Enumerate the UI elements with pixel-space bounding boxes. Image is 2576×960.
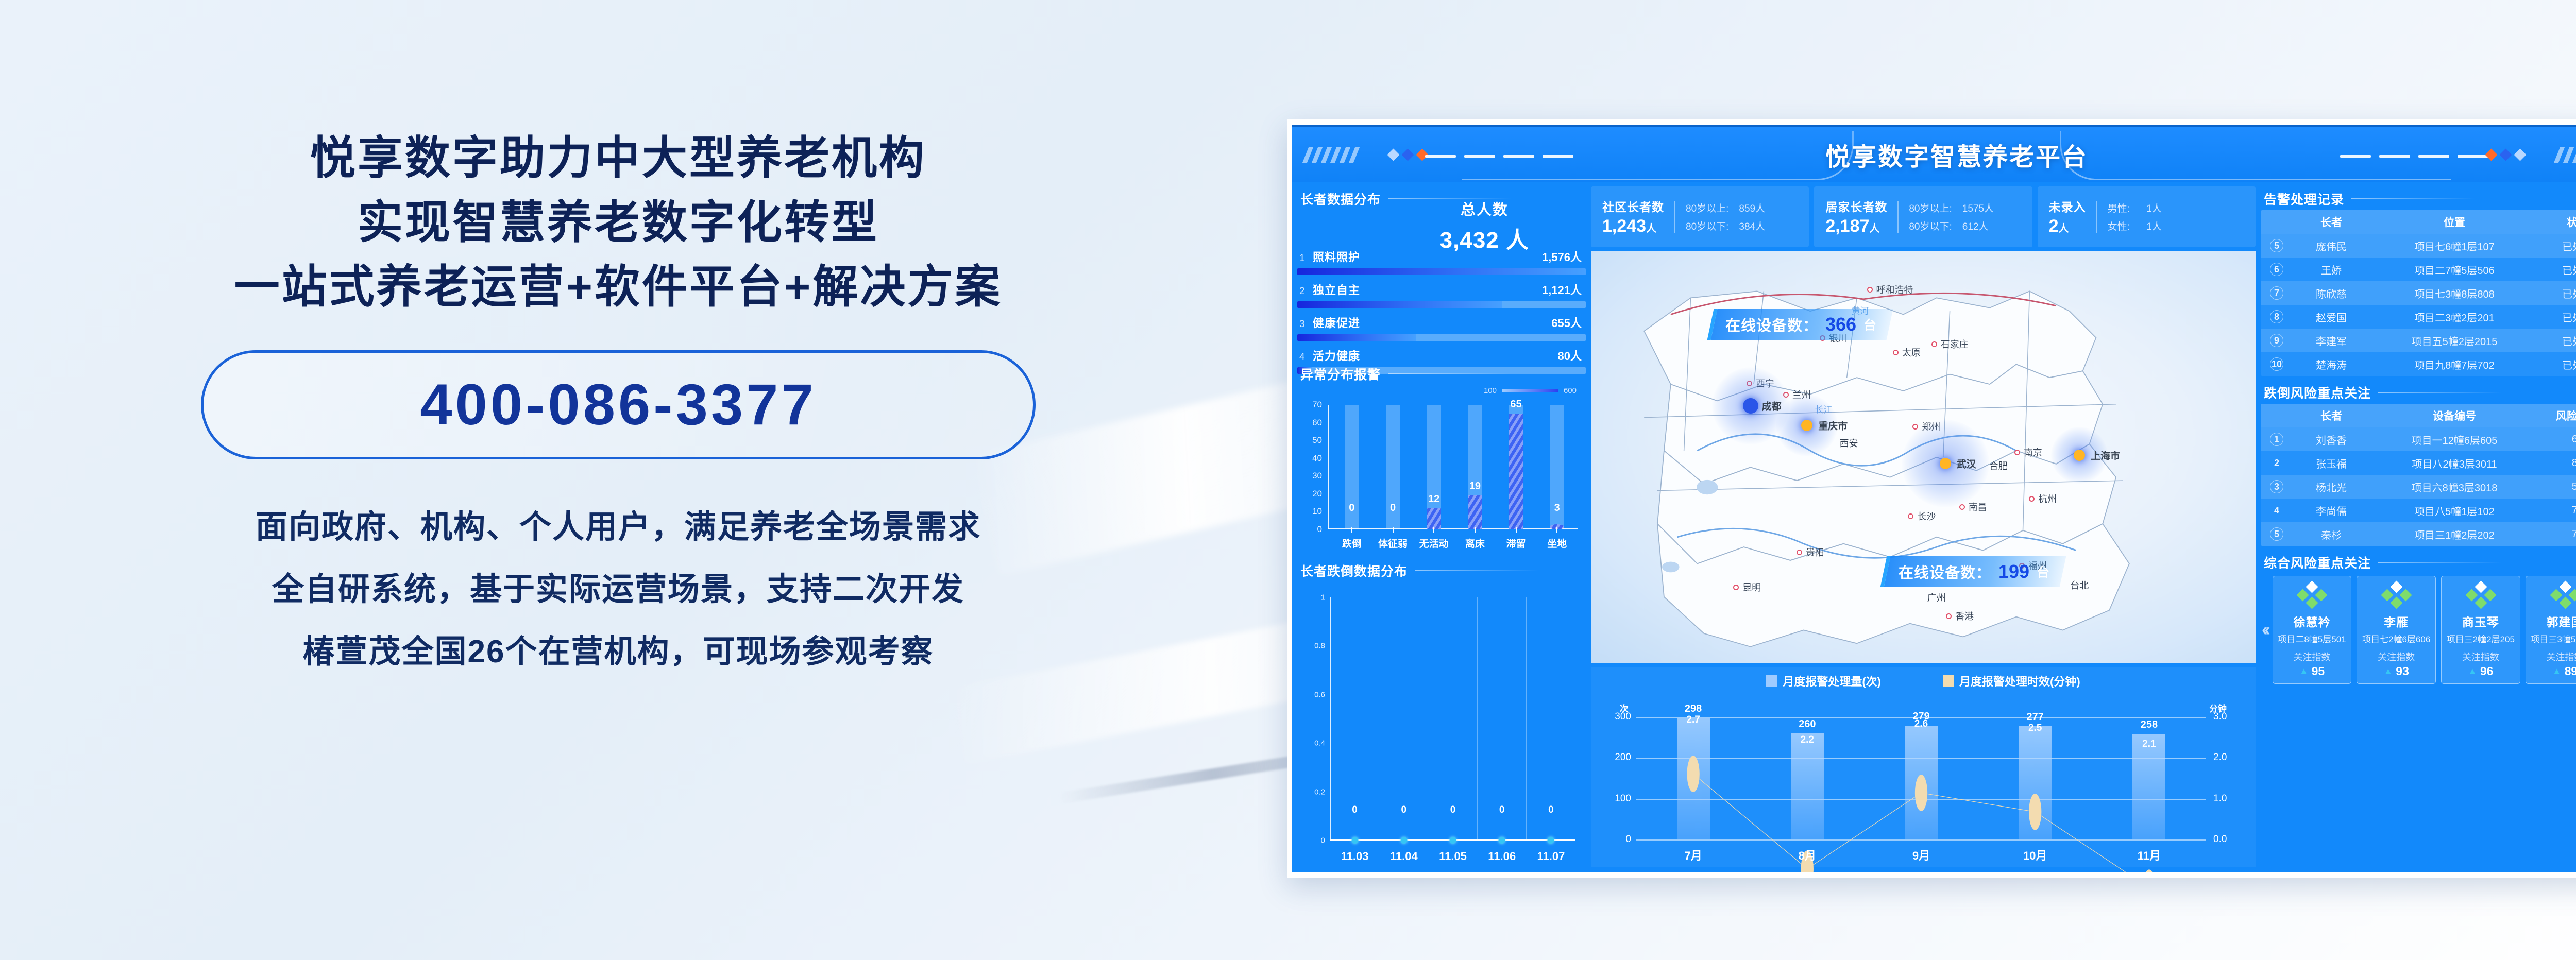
combo-plot-area: 0100200300 0.01.02.03.0 298260279277258 … <box>1636 717 2206 839</box>
fall-y-tick: 0 <box>1321 836 1325 845</box>
table-row[interactable]: 8赵爱国项目二3幢2层201已处理 <box>2261 305 2576 329</box>
overall-risk-card[interactable]: 徐慧衿项目二8幢5层501关注指数▲95 <box>2273 576 2352 684</box>
combo-bar-value: 298 <box>1636 703 1750 715</box>
column-device: 设备编号 <box>2370 408 2539 423</box>
city-name: 西安 <box>1840 436 1858 450</box>
row-device: 项目一12幢6层605 <box>2370 432 2539 447</box>
combo-x-tick: 9月 <box>1864 847 1978 863</box>
city-name: 台北 <box>2070 578 2089 592</box>
online-device-banner-2: 在线设备数： 199 台 <box>1880 556 2066 587</box>
banner-number: 199 <box>1998 561 2029 582</box>
scale-max-label: 600 <box>1564 386 1577 395</box>
abnormal-bar[interactable]: 0 <box>1331 405 1372 529</box>
abnormal-bar[interactable]: 65 <box>1496 405 1537 529</box>
combo-right-tick: 1.0 <box>2213 793 2227 804</box>
banner-number: 366 <box>1825 314 1856 335</box>
overall-risk-card[interactable]: 商玉琴项目三2幢2层205关注指数▲96 <box>2441 576 2520 684</box>
map-city-label: 广州 <box>1927 591 1946 604</box>
diamond-cluster-icon <box>2466 582 2495 609</box>
table-row[interactable]: 10楚海涛项目九8幢7层702已处理 <box>2261 352 2576 376</box>
fall-point[interactable]: 0 <box>1428 597 1477 841</box>
phone-number: 400-086-3377 <box>420 371 816 438</box>
bullet-2: 全自研系统，基于实际运营场景，支持二次开发 <box>256 559 981 621</box>
table-row[interactable]: 1刘香香项目一12幢6层60567 <box>2261 427 2576 451</box>
city-dot-icon <box>1908 513 1913 519</box>
row-index: 5 <box>2261 527 2293 541</box>
legend-swatch-line-icon <box>1943 675 1954 687</box>
abnormal-bar-value: 3 <box>1536 502 1578 514</box>
city-dot-icon <box>1867 287 1873 293</box>
row-elder: 刘香香 <box>2293 432 2370 447</box>
city-name: 石家庄 <box>1941 337 1969 351</box>
stat-title: 未录入 <box>2049 197 2086 215</box>
elders-distribution-panel: 长者数据分布 总人数 3,432 人 1照料照护1,576人2独立自主1,121… <box>1297 186 1586 356</box>
legend-label: 月度报警处理时效(分钟) <box>1959 673 2080 689</box>
abnormal-x-tick-labels: 跌倒体征弱无活动离床滞留坐地 <box>1331 527 1578 550</box>
dashboard-body: 长者数据分布 总人数 3,432 人 1照料照护1,576人2独立自主1,121… <box>1292 182 2576 872</box>
row-elder: 张玉福 <box>2293 456 2370 471</box>
elders-row-bar-track <box>1297 301 1586 308</box>
map-city-label: 南京 <box>2014 445 2042 459</box>
fall-point-value: 0 <box>1352 804 1358 816</box>
row-location: 项目五5幢2层2015 <box>2370 333 2539 348</box>
hub-label: 上海市 <box>2091 449 2120 462</box>
table-row[interactable]: 7陈欣慈项目七3幢8层808已处理 <box>2261 281 2576 305</box>
row-index: 3 <box>2261 480 2293 493</box>
fall-point-dot <box>1499 837 1505 844</box>
marketing-bullets: 面向政府、机构、个人用户，满足养老全场景需求 全自研系统，基于实际运营场景，支持… <box>256 496 981 683</box>
hub-core-icon <box>1801 420 1812 431</box>
abnormal-y-tick: 50 <box>1312 435 1322 445</box>
row-status: 已处理 <box>2539 333 2576 348</box>
combo-legend: 月度报警处理量(次) 月度报警处理时效(分钟) <box>1591 667 2256 689</box>
card-elder-name: 李雁 <box>2384 612 2409 630</box>
row-status: 已处理 <box>2539 262 2576 277</box>
stat-card-community[interactable]: 社区长者数 1,243人 80岁以上:859人 80岁以下:384人 <box>1591 186 1809 247</box>
row-risk-index: 88 <box>2539 457 2576 469</box>
abnormal-x-tick: 体征弱 <box>1372 527 1414 550</box>
abnormal-bar-value: 19 <box>1454 481 1496 492</box>
combo-line-value: 2.2 <box>1801 734 1814 746</box>
stat-title: 居家长者数 <box>1825 197 1887 215</box>
fall-data-points: 00000 <box>1330 597 1575 841</box>
combo-left-axis: 0100200300 <box>1598 717 1634 839</box>
elders-row-index: 1 <box>1299 253 1313 264</box>
scale-gradient-bar <box>1502 389 1558 392</box>
fall-y-tick: 1 <box>1321 593 1325 602</box>
row-status: 已处理 <box>2539 286 2576 301</box>
banner-unit: 台 <box>1863 315 1876 334</box>
column-status: 状态 <box>2539 214 2576 230</box>
map-city-label: 太原 <box>1893 346 1921 359</box>
row-location: 项目九8幢7层702 <box>2370 357 2539 372</box>
card-index-value: ▲89 <box>2552 664 2576 678</box>
fall-x-tick: 11.04 <box>1379 850 1428 863</box>
header-diamonds-right-icon <box>2487 150 2524 159</box>
alarm-table-body: 5庞伟民项目七6幢1层107已处理6王娇项目二7幢5层506已处理7陈欣慈项目七… <box>2261 234 2576 376</box>
city-name: 呼和浩特 <box>1876 283 1913 296</box>
city-name: 香港 <box>1955 609 1974 623</box>
abnormal-y-tick: 0 <box>1317 524 1322 535</box>
fall-point-value: 0 <box>1499 804 1505 816</box>
diamond-cluster-icon <box>2551 582 2576 609</box>
row-location: 项目七3幢8层808 <box>2370 286 2539 301</box>
abnormal-x-tick: 坐地 <box>1536 527 1578 550</box>
elders-total: 总人数 3,432 人 <box>1440 198 1529 254</box>
card-index-label: 关注指数 <box>2378 650 2415 663</box>
elders-row: 3健康促进655人 <box>1297 314 1586 341</box>
up-triangle-icon: ▲ <box>2468 666 2477 677</box>
stat-card-unregistered[interactable]: 未录入 2人 男性:1人 女性:1人 <box>2038 186 2256 247</box>
card-location: 项目三2幢2层205 <box>2447 632 2515 645</box>
fall-x-tick-labels: 11.0311.0411.0511.0611.07 <box>1330 850 1575 863</box>
fall-point-value: 0 <box>1450 804 1456 816</box>
header-dashes-left-icon <box>1425 155 1573 158</box>
stat-divider <box>1674 201 1675 233</box>
row-status: 已处理 <box>2539 238 2576 253</box>
table-row[interactable]: 5庞伟民项目七6幢1层107已处理 <box>2261 234 2576 258</box>
city-name: 南京 <box>2024 445 2042 459</box>
abnormal-y-tick: 10 <box>1312 506 1322 517</box>
hub-core-icon <box>2074 450 2085 461</box>
elders-row-value: 1,576人 <box>1542 248 1582 265</box>
stat-value: 2人 <box>2049 216 2086 236</box>
abnormal-bar-value: 12 <box>1413 493 1454 505</box>
card-index-label: 关注指数 <box>2293 650 2330 663</box>
row-elder: 陈欣慈 <box>2293 286 2370 301</box>
overall-risk-card[interactable]: 郭建国项目三3幢5层502关注指数▲89 <box>2526 576 2576 684</box>
dashboard-left-column: 长者数据分布 总人数 3,432 人 1照料照护1,576人2独立自主1,121… <box>1297 186 1586 867</box>
row-elder: 秦杉 <box>2293 527 2370 542</box>
diamond-cluster-icon <box>2297 582 2326 609</box>
map-city-label: 西安 <box>1840 436 1858 450</box>
combo-line-dot <box>2029 794 2041 830</box>
city-name: 广州 <box>1927 591 1946 604</box>
map-city-label: 香港 <box>1946 609 1974 623</box>
fall-point-value: 0 <box>1548 804 1554 816</box>
combo-x-tick: 10月 <box>1978 847 2092 863</box>
row-device: 项目八5幢1层102 <box>2370 503 2539 518</box>
city-dot-icon <box>1912 424 1918 430</box>
abnormal-bar[interactable]: 0 <box>1372 405 1414 529</box>
abnormal-y-tick: 20 <box>1312 489 1322 499</box>
column-risk-index: 风险指数 <box>2539 408 2576 423</box>
dashboard-header: 悦享数字智慧养老平台 <box>1292 125 2576 182</box>
dashboard-middle-column: 社区长者数 1,243人 80岁以上:859人 80岁以下:384人 居家长者数 <box>1591 186 2256 867</box>
row-status: 已处理 <box>2539 357 2576 372</box>
legend-item-duration[interactable]: 月度报警处理时效(分钟) <box>1943 673 2080 689</box>
city-dot-icon <box>1931 341 1937 347</box>
table-row[interactable]: 9李建军项目五5幢2层2015已处理 <box>2261 329 2576 352</box>
fall-point[interactable]: 0 <box>1478 597 1527 841</box>
abnormal-bar-fill <box>1468 495 1482 529</box>
abnormal-bar[interactable]: 3 <box>1536 405 1578 529</box>
abnormal-bar-value: 0 <box>1372 502 1414 514</box>
table-row[interactable]: 5秦杉项目三1幢2层20278 <box>2261 522 2576 546</box>
map-city-label: 长沙 <box>1908 509 1936 523</box>
map-city-label: 贵阳 <box>1797 545 1824 559</box>
city-dot-icon <box>2014 450 2020 455</box>
row-status: 已处理 <box>2539 310 2576 324</box>
abnormal-bars: 001219653 <box>1331 405 1578 529</box>
combo-line-value: 2.7 <box>1686 714 1700 726</box>
card-location: 项目二8幢5层501 <box>2278 632 2346 645</box>
table-row[interactable]: 3杨北光项目六8幢3层301852 <box>2261 475 2576 499</box>
fall-risk-panel: 跌倒风险重点关注 长者 设备编号 风险指数 1刘香香项目一12幢6层605672… <box>2261 380 2576 546</box>
legend-label: 月度报警处理量(次) <box>1783 673 1881 689</box>
row-risk-index: 67 <box>2539 434 2576 445</box>
fall-x-tick: 11.05 <box>1428 850 1477 863</box>
card-elder-name: 郭建国 <box>2547 612 2576 630</box>
stat-details: 男性:1人 女性:1人 <box>2108 201 2162 233</box>
abnormal-y-tick: 70 <box>1312 400 1322 410</box>
combo-line-dot <box>1687 756 1699 792</box>
map-city-label: 台北 <box>2070 578 2089 592</box>
alarm-records-panel: 告警处理记录 长者 位置 状态 5庞伟民项目七6幢1层107已处理6王娇项目二7… <box>2261 186 2576 376</box>
headline-line-2: 实现智慧养老数字化转型 <box>234 191 1003 255</box>
combo-x-tick: 11月 <box>2092 847 2206 863</box>
fall-y-tick: 0.6 <box>1314 690 1325 699</box>
stat-details: 80岁以上:1575人 80岁以下:612人 <box>1909 201 1994 233</box>
legend-item-volume[interactable]: 月度报警处理量(次) <box>1766 673 1881 689</box>
city-name: 南昌 <box>1969 500 1987 513</box>
combo-x-tick-labels: 7月8月9月10月11月 <box>1636 847 2206 863</box>
fall-x-tick: 11.03 <box>1330 850 1379 863</box>
fall-risk-table-body: 1刘香香项目一12幢6层605672张玉福项目八2幢3层3011883杨北光项目… <box>2261 427 2576 546</box>
abnormal-bar-value: 65 <box>1496 399 1537 410</box>
fall-point-value: 0 <box>1401 804 1407 816</box>
combo-right-tick: 3.0 <box>2213 711 2227 723</box>
overall-risk-carousel: ‹‹ 徐慧衿项目二8幢5层501关注指数▲95李雁项目七2幢6层606关注指数▲… <box>2261 574 2576 684</box>
row-location: 项目七6幢1层107 <box>2370 238 2539 253</box>
fall-distribution-chart-panel: 长者跌倒数据分布 00.20.40.60.81 00000 11.0311.04… <box>1297 558 1586 867</box>
hub-core-icon <box>1940 458 1951 469</box>
elders-row-value: 1,121人 <box>1542 281 1582 298</box>
card-location: 项目三3幢5层502 <box>2531 632 2576 645</box>
city-name: 太原 <box>1902 346 1921 359</box>
row-index: 4 <box>2261 504 2293 517</box>
scale-min-label: 100 <box>1484 386 1497 395</box>
elders-row: 2独立自主1,121人 <box>1297 281 1586 308</box>
alarm-records-table: 长者 位置 状态 5庞伟民项目七6幢1层107已处理6王娇项目二7幢5层506已… <box>2261 210 2576 376</box>
abnormal-y-axis-line <box>1328 405 1329 529</box>
combo-line-dot <box>2143 869 2155 872</box>
abnormal-bar-fill <box>1509 414 1523 529</box>
hub-label: 武汉 <box>1957 457 1976 471</box>
abnormal-y-tick: 60 <box>1312 418 1322 428</box>
table-row[interactable]: 2张玉福项目八2幢3层301188 <box>2261 451 2576 475</box>
overall-risk-cards: 徐慧衿项目二8幢5层501关注指数▲95李雁项目七2幢6层606关注指数▲93商… <box>2273 576 2576 684</box>
city-dot-icon <box>1893 350 1899 355</box>
headline-line-1: 悦享数字助力中大型养老机构 <box>234 126 1003 191</box>
abnormal-x-tick: 跌倒 <box>1331 527 1372 550</box>
row-index: 9 <box>2261 334 2293 347</box>
combo-x-tick: 7月 <box>1636 847 1750 863</box>
row-index: 2 <box>2261 456 2293 470</box>
table-row[interactable]: 4李尚儒项目八5幢1层10276 <box>2261 499 2576 522</box>
row-elder: 王娇 <box>2293 262 2370 277</box>
fall-y-axis: 00.20.40.60.81 <box>1302 597 1330 841</box>
bullet-1: 面向政府、机构、个人用户，满足养老全场景需求 <box>256 496 981 559</box>
fall-point[interactable]: 0 <box>1527 597 1575 841</box>
row-device: 项目六8幢3层3018 <box>2370 479 2539 494</box>
combo-left-tick: 300 <box>1615 711 1631 723</box>
fall-point-dot <box>1548 837 1554 844</box>
city-dot-icon <box>1946 613 1952 619</box>
stat-value: 2,187人 <box>1825 216 1887 236</box>
row-index: 6 <box>2261 263 2293 276</box>
header-slashes-left-icon <box>1306 147 1357 163</box>
row-risk-index: 52 <box>2539 481 2576 493</box>
abnormal-y-axis: 010203040506070 <box>1300 405 1328 529</box>
fall-y-tick: 0.8 <box>1314 642 1325 650</box>
up-triangle-icon: ▲ <box>2383 666 2393 677</box>
dashboard-screenshot-frame: 悦享数字智慧养老平台 长者数据分布 总人数 3,432 人 1照料照护1,576… <box>1287 119 2576 878</box>
abnormal-alarm-chart-panel: 异常分布报警 100 600 010203040506070 001219653… <box>1297 362 1586 553</box>
stat-divider <box>2096 201 2097 233</box>
abnormal-x-tick: 离床 <box>1454 527 1496 550</box>
abnormal-bar-value: 0 <box>1331 502 1372 514</box>
elders-row-index: 3 <box>1299 319 1313 330</box>
stat-card-row: 社区长者数 1,243人 80岁以上:859人 80岁以下:384人 居家长者数 <box>1591 186 2256 247</box>
header-slashes-right-icon <box>2557 147 2576 163</box>
row-index: 7 <box>2261 286 2293 300</box>
row-elder: 李建军 <box>2293 333 2370 348</box>
dashboard: 悦享数字智慧养老平台 长者数据分布 总人数 3,432 人 1照料照护1,576… <box>1292 125 2576 872</box>
hub-core-icon <box>1743 398 1758 414</box>
column-elder: 长者 <box>2293 408 2370 423</box>
city-name: 杭州 <box>2038 492 2057 505</box>
city-name: 贵阳 <box>1806 545 1824 559</box>
city-dot-icon <box>1797 550 1802 555</box>
row-device: 项目八2幢3层3011 <box>2370 456 2539 471</box>
fall-y-tick: 0.4 <box>1314 739 1325 748</box>
fall-point[interactable]: 0 <box>1330 597 1379 841</box>
bullet-3: 椿萱茂全国26个在营机构，可现场参观考察 <box>256 621 981 683</box>
dashboard-right-column: 告警处理记录 长者 位置 状态 5庞伟民项目七6幢1层107已处理6王娇项目二7… <box>2261 186 2576 867</box>
overall-risk-panel: 综合风险重点关注 ‹‹ 徐慧衿项目二8幢5层501关注指数▲95李雁项目七2幢6… <box>2261 550 2576 684</box>
abnormal-x-tick: 无活动 <box>1413 527 1454 550</box>
header-dashes-right-icon <box>2340 155 2488 158</box>
card-location: 项目七2幢6层606 <box>2362 632 2430 645</box>
overall-risk-panel-title: 综合风险重点关注 <box>2264 553 2576 572</box>
china-map-panel[interactable]: 黄河长江 呼和浩特银川西宁兰州太原石家庄郑州西安合肥南京南昌长沙杭州贵阳昆明福州… <box>1591 251 2256 663</box>
table-header-row: 长者 设备编号 风险指数 <box>2261 404 2576 427</box>
monthly-alarm-chart-panel: 月度报警处理量(次) 月度报警处理时效(分钟) 次 分钟 0100200300 … <box>1591 667 2256 867</box>
hub-label: 重庆市 <box>1818 419 1848 433</box>
card-index-value: ▲93 <box>2383 664 2409 678</box>
map-city-label: 石家庄 <box>1931 337 1969 351</box>
fall-risk-table: 长者 设备编号 风险指数 1刘香香项目一12幢6层605672张玉福项目八2幢3… <box>2261 404 2576 546</box>
city-dot-icon <box>1733 585 1739 590</box>
card-elder-name: 商玉琴 <box>2462 612 2499 630</box>
abnormal-y-tick: 40 <box>1312 453 1322 464</box>
table-row[interactable]: 6王娇项目二7幢5层506已处理 <box>2261 258 2576 281</box>
combo-left-tick: 200 <box>1615 752 1631 763</box>
fall-point[interactable]: 0 <box>1379 597 1428 841</box>
city-name: 合肥 <box>1989 459 2008 472</box>
header-diamonds-left-icon <box>1389 150 1427 159</box>
banner-label: 在线设备数： <box>1725 314 1818 335</box>
elders-row-bar-fill <box>1297 268 1586 275</box>
stat-value: 1,243人 <box>1602 216 1664 236</box>
abnormal-x-tick: 滞留 <box>1496 527 1537 550</box>
combo-line-value: 2.6 <box>1914 718 1928 730</box>
marketing-column: 悦享数字助力中大型养老机构 实现智慧养老数字化转型 一站式养老运营+软件平台+解… <box>0 0 1236 960</box>
card-index-label: 关注指数 <box>2462 650 2499 663</box>
phone-cta-button[interactable]: 400-086-3377 <box>201 350 1036 459</box>
row-index: 5 <box>2261 239 2293 252</box>
map-city-label: 合肥 <box>1989 459 2008 472</box>
row-risk-index: 76 <box>2539 505 2576 517</box>
combo-left-tick: 100 <box>1615 793 1631 804</box>
combo-left-tick: 0 <box>1625 834 1631 845</box>
alarm-panel-title: 告警处理记录 <box>2264 190 2576 208</box>
elders-total-label: 总人数 <box>1440 198 1529 219</box>
elders-row-label: 照料照护 <box>1313 248 1360 265</box>
row-device: 项目三1幢2层202 <box>2370 527 2539 542</box>
hub-label: 成都 <box>1762 399 1782 413</box>
elders-row-bar-fill <box>1297 301 1502 308</box>
city-name: 长沙 <box>1917 509 1936 523</box>
map-city-label: 呼和浩特 <box>1867 283 1913 296</box>
stat-divider <box>1897 201 1899 233</box>
row-location: 项目二7幢5层506 <box>2370 262 2539 277</box>
abnormal-bar[interactable]: 12 <box>1413 405 1454 529</box>
fall-risk-panel-title: 跌倒风险重点关注 <box>2264 383 2576 402</box>
headline-line-3: 一站式养老运营+软件平台+解决方案 <box>234 255 1003 319</box>
banner-label: 在线设备数： <box>1899 561 1991 582</box>
city-name: 昆明 <box>1742 580 1761 594</box>
abnormal-y-tick: 30 <box>1312 471 1322 481</box>
combo-right-tick: 2.0 <box>2213 752 2227 763</box>
city-dot-icon <box>2029 496 2035 502</box>
row-elder: 赵爱国 <box>2293 310 2370 324</box>
banner-unit: 台 <box>2037 562 2049 581</box>
combo-line-value: 2.1 <box>2142 739 2156 750</box>
row-elder: 杨北光 <box>2293 479 2370 494</box>
column-elder: 长者 <box>2293 214 2370 230</box>
map-city-label: 杭州 <box>2029 492 2057 505</box>
abnormal-color-scale-legend: 100 600 <box>1484 386 1577 395</box>
row-index: 10 <box>2261 357 2293 371</box>
abnormal-bar[interactable]: 19 <box>1454 405 1496 529</box>
combo-line-value: 2.5 <box>2028 723 2042 734</box>
carousel-prev-icon[interactable]: ‹‹ <box>2262 576 2267 684</box>
card-index-label: 关注指数 <box>2547 650 2576 663</box>
elders-row-bar-track <box>1297 334 1586 341</box>
row-elder: 楚海涛 <box>2293 357 2370 372</box>
card-index-value: ▲95 <box>2299 664 2325 678</box>
overall-risk-card[interactable]: 李雁项目七2幢6层606关注指数▲93 <box>2357 576 2436 684</box>
column-location: 位置 <box>2370 214 2539 230</box>
row-index: 1 <box>2261 433 2293 446</box>
abnormal-plot-area: 010203040506070 001219653 跌倒体征弱无活动离床滞留坐地 <box>1300 405 1578 529</box>
stat-card-home[interactable]: 居家长者数 2,187人 80岁以上:1575人 80岁以下:612人 <box>1814 186 2032 247</box>
diamond-cluster-icon <box>2382 582 2411 609</box>
table-header-row: 长者 位置 状态 <box>2261 210 2576 234</box>
online-device-banner-1: 在线设备数： 366 台 <box>1707 309 1893 340</box>
fall-point-dot <box>1450 837 1456 844</box>
elders-row-label: 独立自主 <box>1313 281 1360 298</box>
elders-row-index: 2 <box>1299 286 1313 297</box>
fall-panel-title: 长者跌倒数据分布 <box>1300 561 1586 580</box>
row-elder: 李尚儒 <box>2293 503 2370 518</box>
card-elder-name: 徐慧衿 <box>2293 612 2330 630</box>
row-elder: 庞伟民 <box>2293 238 2370 253</box>
elders-row-value: 655人 <box>1551 314 1582 331</box>
city-dot-icon <box>1959 504 1965 510</box>
